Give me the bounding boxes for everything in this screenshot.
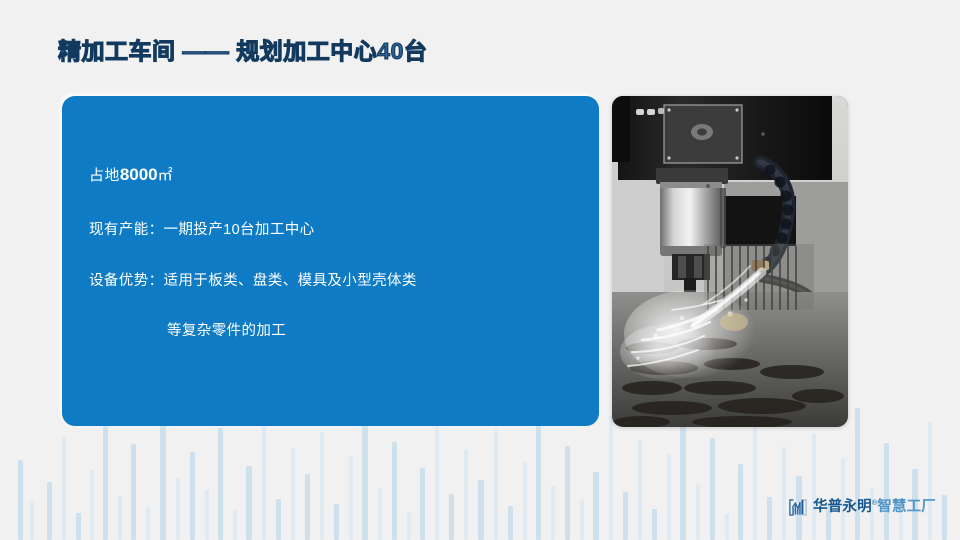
decoration-bar [160, 414, 166, 540]
decoration-bar [449, 494, 454, 540]
page-title-text: 精加工车间 —— 规划加工中心40台 [58, 40, 427, 63]
decoration-bar [276, 499, 281, 540]
decoration-bar [146, 507, 150, 540]
factory-bars-bracket-icon [788, 498, 808, 517]
decoration-bar [593, 472, 599, 540]
list-item: 等复杂零件的加工 [89, 322, 579, 342]
decoration-bar [812, 434, 816, 540]
decoration-bar [580, 500, 584, 540]
info-prefix: 占地 [89, 167, 120, 184]
decoration-bar [478, 480, 484, 540]
decoration-bar [305, 474, 310, 540]
machining-center-photo [612, 96, 848, 427]
photo-illustration [612, 96, 848, 427]
logo: 华普永明®智慧工厂 [788, 496, 936, 518]
decoration-bar [205, 490, 209, 540]
logo-sub: 智慧工厂 [877, 499, 936, 515]
decoration-bar [884, 443, 889, 540]
decoration-bar [942, 495, 947, 540]
decoration-bar [18, 460, 23, 540]
decoration-bar [508, 506, 513, 540]
decoration-bar [76, 513, 81, 540]
decoration-bar [609, 416, 613, 540]
decoration-bar [420, 468, 425, 540]
decoration-bar [378, 488, 382, 540]
decoration-bar [90, 470, 94, 540]
decoration-bar [696, 484, 700, 540]
decoration-bar [47, 482, 52, 540]
decoration-bar [855, 408, 860, 540]
decoration-bar [667, 454, 671, 540]
decoration-bar [334, 504, 339, 540]
info-panel: 占地8000㎡ 现有产能：一期投产10台加工中心 设备优势：适用于板类、盘类、模… [62, 96, 599, 426]
decoration-bar [233, 510, 237, 540]
decoration-bar [652, 509, 657, 540]
decoration-bar [30, 502, 34, 540]
decoration-bar [464, 450, 468, 540]
decoration-bar [262, 418, 266, 540]
decoration-bar [218, 428, 223, 540]
decoration-bar [565, 446, 570, 540]
decoration-bar [392, 442, 397, 540]
decoration-bar [638, 440, 642, 540]
decoration-bar [767, 497, 772, 540]
decoration-bar [176, 478, 180, 540]
list-item: 设备优势：适用于板类、盘类、模具及小型壳体类 [89, 272, 579, 292]
info-list: 占地8000㎡ 现有产能：一期投产10台加工中心 设备优势：适用于板类、盘类、模… [89, 164, 579, 342]
decoration-bar [523, 462, 527, 540]
decoration-bar [320, 432, 324, 540]
info-suffix: ㎡ [158, 167, 173, 184]
logo-brand: 华普永明 [813, 499, 872, 515]
decoration-bar [118, 496, 122, 540]
decoration-bar [536, 420, 541, 540]
decoration-bar [494, 430, 498, 540]
decoration-bar [362, 424, 368, 540]
page-title: 精加工车间 —— 规划加工中心40台 [58, 34, 427, 68]
decoration-bar [710, 438, 715, 540]
decoration-bar [291, 448, 295, 540]
decoration-bar [782, 447, 786, 540]
decoration-bar [349, 456, 353, 540]
decoration-bar [551, 486, 555, 540]
decoration-bar [131, 444, 136, 540]
decoration-bar [725, 514, 729, 540]
decoration-bar [623, 492, 628, 540]
decoration-bar [680, 426, 686, 540]
slide-canvas: 精加工车间 —— 规划加工中心40台 占地8000㎡ 现有产能：一期投产10台加… [0, 0, 960, 540]
list-item: 现有产能：一期投产10台加工中心 [89, 221, 579, 241]
logo-text: 华普永明®智慧工厂 [813, 500, 936, 515]
info-emphasis: 8000 [120, 165, 158, 184]
decoration-bar [753, 412, 757, 540]
decoration-bar [435, 410, 439, 540]
decoration-bar [103, 422, 108, 540]
list-item: 占地8000㎡ [89, 164, 579, 187]
decoration-bar [62, 436, 66, 540]
decoration-bar [190, 452, 195, 540]
decoration-bar [246, 466, 252, 540]
decoration-bar [928, 421, 932, 540]
decoration-bar [738, 464, 743, 540]
decoration-bar [407, 512, 411, 540]
